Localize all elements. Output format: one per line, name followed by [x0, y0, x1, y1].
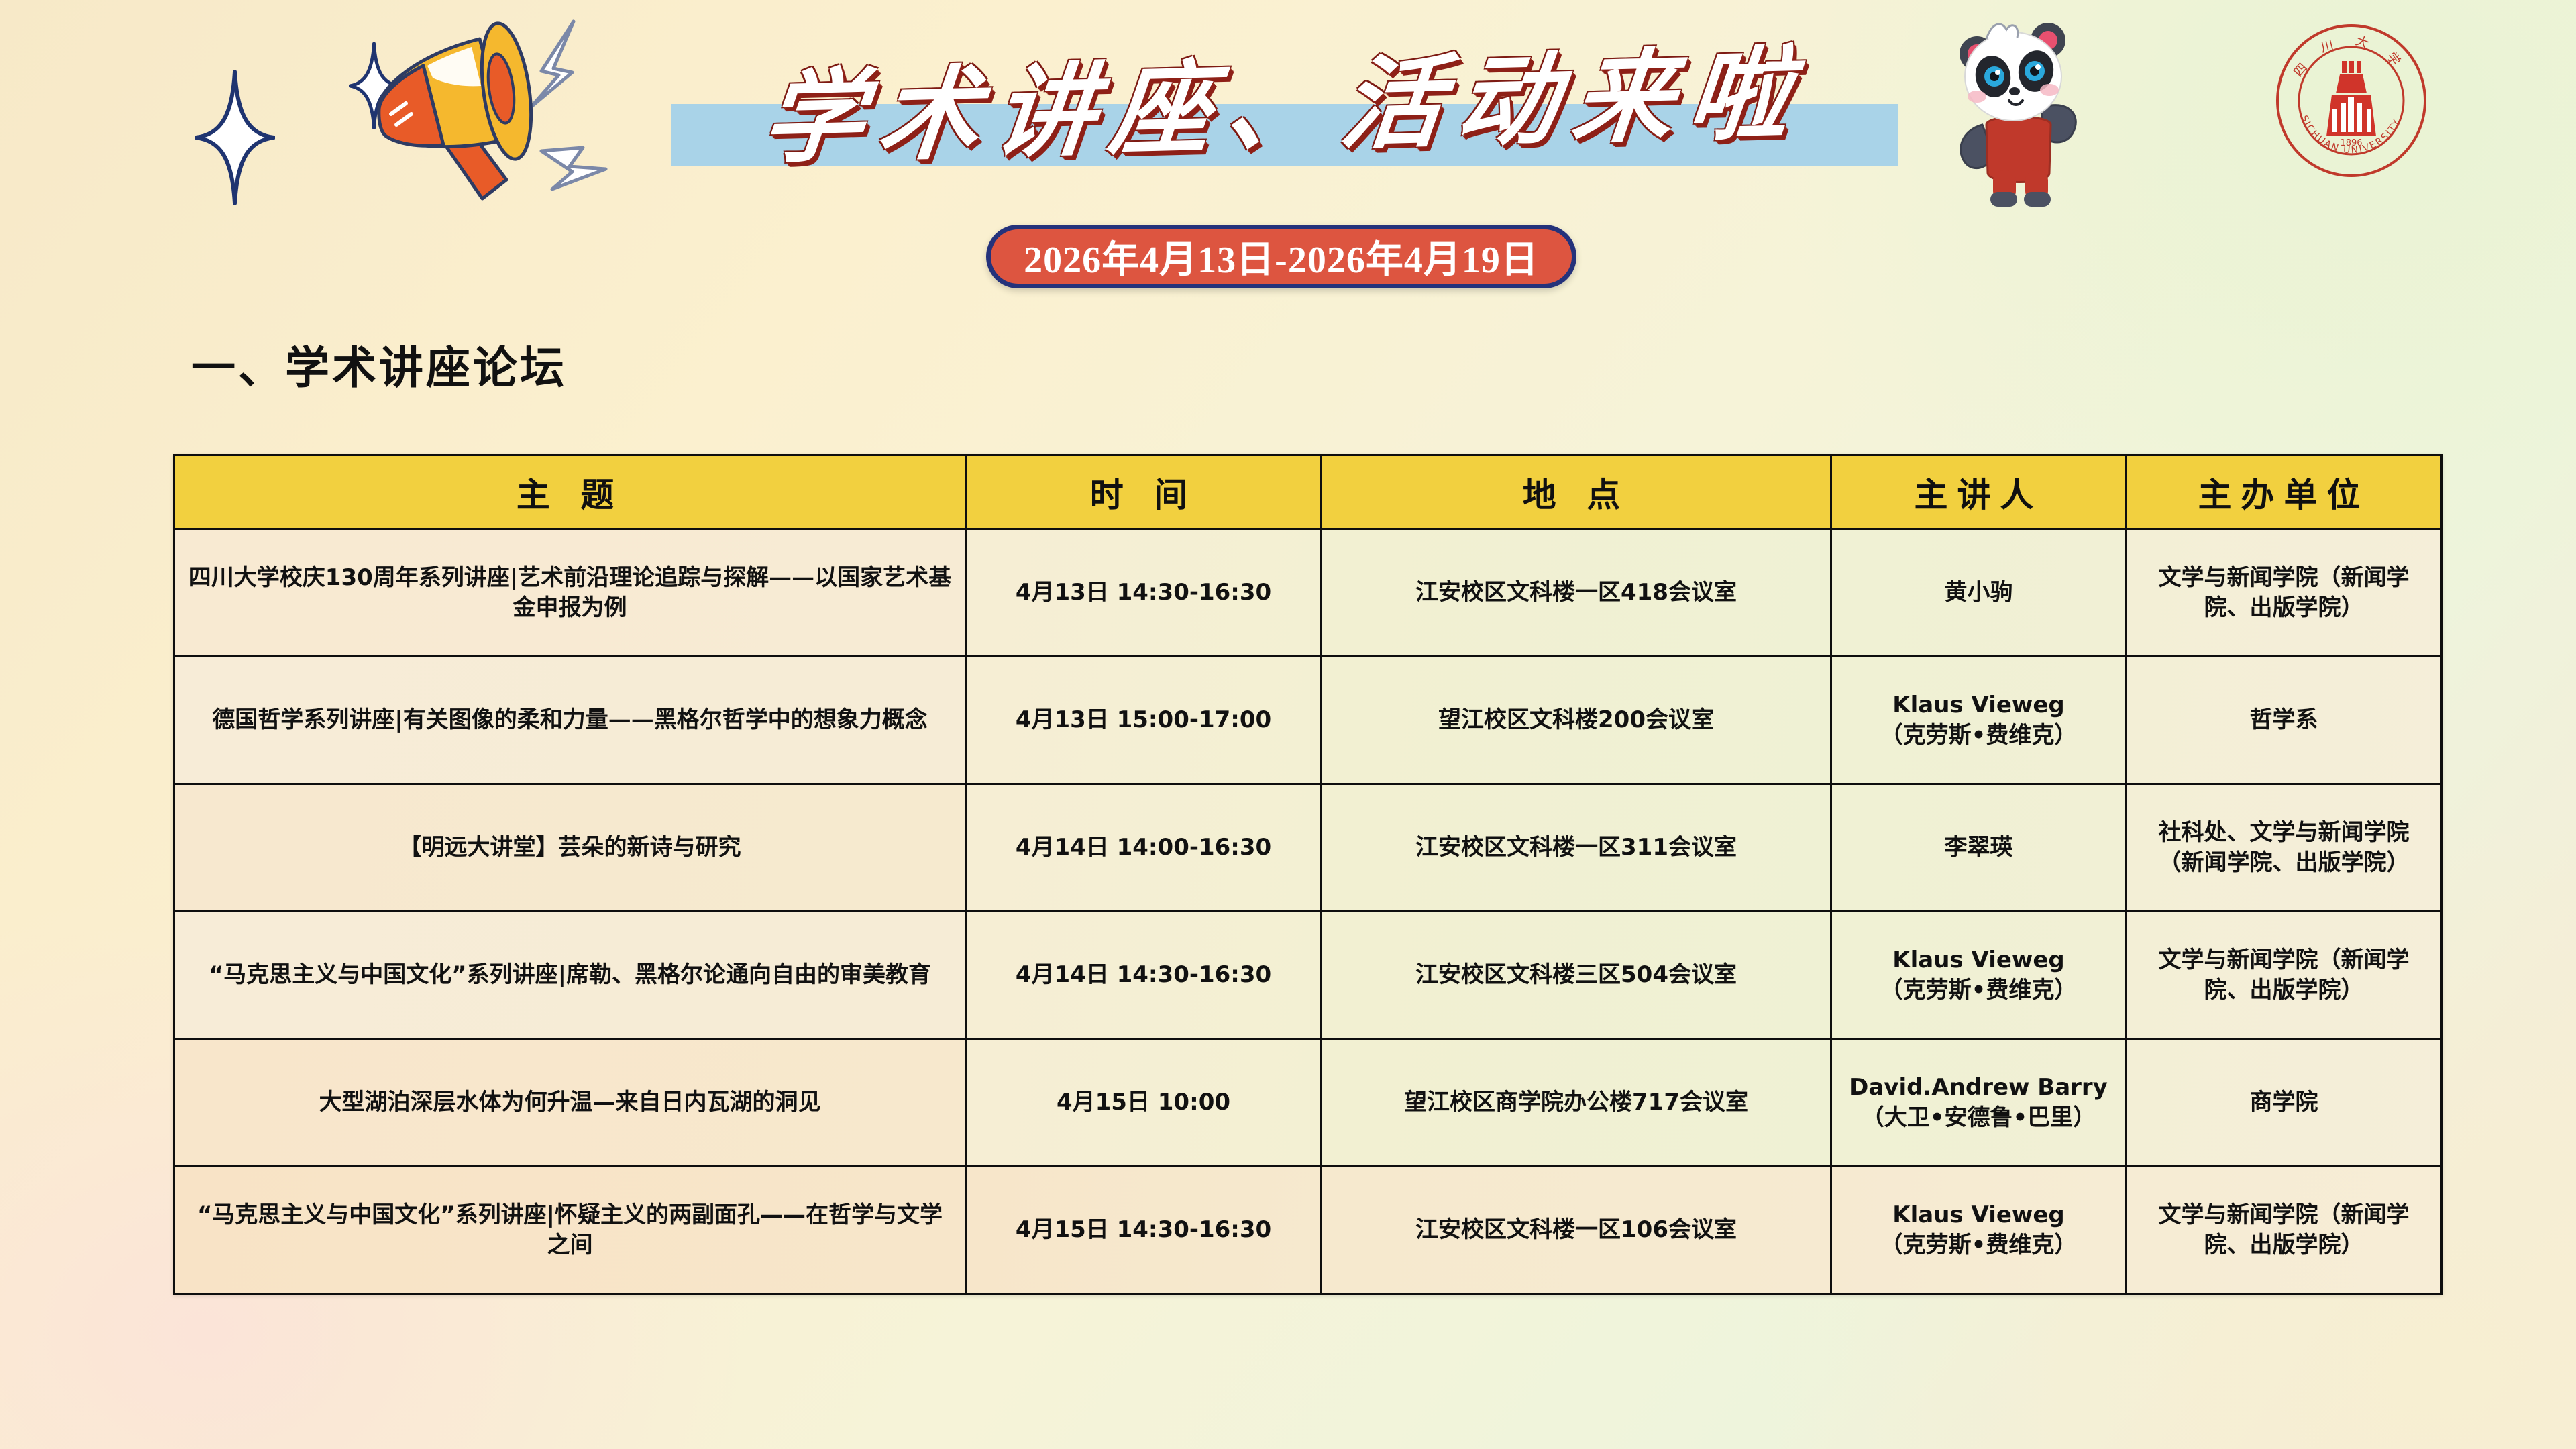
- cell-topic-text: 德国哲学系列讲座|有关图像的柔和力量——黑格尔哲学中的想象力概念: [186, 705, 954, 735]
- cell-time-text: 4月15日 10:00: [977, 1087, 1309, 1118]
- table-header-row: 主 题 时 间 地 点 主讲人 主办单位: [174, 455, 2442, 529]
- cell-host: 文学与新闻学院（新闻学院、出版学院）: [2127, 1167, 2442, 1294]
- cell-speaker-text: Klaus Vieweg: [1843, 1200, 2114, 1230]
- cell-host: 哲学系: [2127, 657, 2442, 784]
- cell-time-text: 4月14日 14:00-16:30: [977, 833, 1309, 863]
- cell-topic: 【明远大讲堂】芸朵的新诗与研究: [174, 784, 966, 912]
- cell-topic: “马克思主义与中国文化”系列讲座|席勒、黑格尔论通向自由的审美教育: [174, 912, 966, 1039]
- cell-host-text: 商学院: [2138, 1087, 2430, 1118]
- cell-host-text: 文学与新闻学院（新闻学院、出版学院）: [2138, 1200, 2430, 1260]
- cell-place-text: 江安校区文科楼三区504会议室: [1333, 960, 1819, 990]
- cell-topic: 大型湖泊深层水体为何升温—来自日内瓦湖的洞见: [174, 1039, 966, 1167]
- table-row: 四川大学校庆130周年系列讲座|艺术前沿理论追踪与探解——以国家艺术基金申报为例…: [174, 529, 2442, 657]
- cell-speaker: David.Andrew Barry（大卫•安德鲁•巴里）: [1831, 1039, 2127, 1167]
- cell-topic: 四川大学校庆130周年系列讲座|艺术前沿理论追踪与探解——以国家艺术基金申报为例: [174, 529, 966, 657]
- cell-host: 商学院: [2127, 1039, 2442, 1167]
- cell-host-text: 社科处、文学与新闻学院（新闻学院、出版学院）: [2138, 818, 2430, 878]
- cell-host-text: 文学与新闻学院（新闻学院、出版学院）: [2138, 563, 2430, 623]
- cell-host: 社科处、文学与新闻学院（新闻学院、出版学院）: [2127, 784, 2442, 912]
- page-header: 学术讲座、活动来啦 2026年4月13日-2026年4月19日: [0, 0, 2576, 295]
- cell-speaker-secondary-text: （克劳斯•费维克）: [1843, 1230, 2114, 1260]
- cell-time: 4月15日 14:30-16:30: [966, 1167, 1322, 1294]
- cell-speaker: 黄小驹: [1831, 529, 2127, 657]
- cell-speaker-text: 李翠瑛: [1843, 833, 2114, 863]
- panda-mascot-icon: [1942, 7, 2103, 208]
- cell-place: 江安校区文科楼一区418会议室: [1322, 529, 1831, 657]
- table-row: “马克思主义与中国文化”系列讲座|席勒、黑格尔论通向自由的审美教育4月14日 1…: [174, 912, 2442, 1039]
- megaphone-icon: [305, 13, 654, 215]
- cell-place-text: 江安校区文科楼一区106会议室: [1333, 1215, 1819, 1245]
- cell-speaker: Klaus Vieweg（克劳斯•费维克）: [1831, 657, 2127, 784]
- cell-place: 江安校区文科楼一区311会议室: [1322, 784, 1831, 912]
- cell-topic-text: 【明远大讲堂】芸朵的新诗与研究: [186, 833, 954, 863]
- banner-title: 学术讲座、活动来啦: [671, 20, 1905, 174]
- cell-time: 4月13日 14:30-16:30: [966, 529, 1322, 657]
- column-header-topic: 主 题: [174, 455, 966, 529]
- cell-speaker-text: 黄小驹: [1843, 578, 2114, 608]
- cell-speaker: 李翠瑛: [1831, 784, 2127, 912]
- cell-speaker-text: Klaus Vieweg: [1843, 690, 2114, 720]
- cell-topic-text: “马克思主义与中国文化”系列讲座|席勒、黑格尔论通向自由的审美教育: [186, 960, 954, 990]
- cell-topic: 德国哲学系列讲座|有关图像的柔和力量——黑格尔哲学中的想象力概念: [174, 657, 966, 784]
- cell-place: 望江校区商学院办公楼717会议室: [1322, 1039, 1831, 1167]
- date-range-text: 2026年4月13日-2026年4月19日: [1024, 229, 1539, 284]
- cell-time-text: 4月15日 14:30-16:30: [977, 1215, 1309, 1245]
- cell-place-text: 望江校区文科楼200会议室: [1333, 705, 1819, 735]
- schedule-table-body: 四川大学校庆130周年系列讲座|艺术前沿理论追踪与探解——以国家艺术基金申报为例…: [174, 529, 2442, 1294]
- cell-place: 望江校区文科楼200会议室: [1322, 657, 1831, 784]
- cell-time: 4月14日 14:00-16:30: [966, 784, 1322, 912]
- sichuan-university-logo: 四川大学 SICHUAN UNIVERSITY 1896: [2274, 23, 2428, 178]
- cell-host-text: 文学与新闻学院（新闻学院、出版学院）: [2138, 945, 2430, 1006]
- cell-speaker-secondary-text: （大卫•安德鲁•巴里）: [1843, 1103, 2114, 1133]
- table-row: 德国哲学系列讲座|有关图像的柔和力量——黑格尔哲学中的想象力概念4月13日 15…: [174, 657, 2442, 784]
- logo-year: 1896: [2340, 138, 2362, 148]
- table-row: 大型湖泊深层水体为何升温—来自日内瓦湖的洞见4月15日 10:00望江校区商学院…: [174, 1039, 2442, 1167]
- cell-place: 江安校区文科楼三区504会议室: [1322, 912, 1831, 1039]
- column-header-speaker: 主讲人: [1831, 455, 2127, 529]
- cell-host: 文学与新闻学院（新闻学院、出版学院）: [2127, 912, 2442, 1039]
- cell-topic-text: 大型湖泊深层水体为何升温—来自日内瓦湖的洞见: [186, 1087, 954, 1118]
- cell-place-text: 江安校区文科楼一区311会议室: [1333, 833, 1819, 863]
- schedule-table: 主 题 时 间 地 点 主讲人 主办单位 四川大学校庆130周年系列讲座|艺术前…: [173, 454, 2443, 1295]
- cell-topic-text: “马克思主义与中国文化”系列讲座|怀疑主义的两副面孔——在哲学与文学之间: [186, 1200, 954, 1260]
- sparkle-icon: [195, 70, 275, 205]
- column-header-host: 主办单位: [2127, 455, 2442, 529]
- cell-time: 4月13日 15:00-17:00: [966, 657, 1322, 784]
- table-row: 【明远大讲堂】芸朵的新诗与研究4月14日 14:00-16:30江安校区文科楼一…: [174, 784, 2442, 912]
- section-heading: 一、学术讲座论坛: [191, 332, 567, 396]
- column-header-time: 时 间: [966, 455, 1322, 529]
- date-range-badge: 2026年4月13日-2026年4月19日: [986, 225, 1576, 288]
- cell-speaker: Klaus Vieweg（克劳斯•费维克）: [1831, 912, 2127, 1039]
- table-row: “马克思主义与中国文化”系列讲座|怀疑主义的两副面孔——在哲学与文学之间4月15…: [174, 1167, 2442, 1294]
- cell-time-text: 4月13日 14:30-16:30: [977, 578, 1309, 608]
- cell-time-text: 4月14日 14:30-16:30: [977, 960, 1309, 990]
- cell-topic: “马克思主义与中国文化”系列讲座|怀疑主义的两副面孔——在哲学与文学之间: [174, 1167, 966, 1294]
- cell-speaker-text: Klaus Vieweg: [1843, 945, 2114, 975]
- cell-place-text: 江安校区文科楼一区418会议室: [1333, 578, 1819, 608]
- cell-speaker-secondary-text: （克劳斯•费维克）: [1843, 720, 2114, 751]
- cell-speaker: Klaus Vieweg（克劳斯•费维克）: [1831, 1167, 2127, 1294]
- cell-host-text: 哲学系: [2138, 705, 2430, 735]
- cell-speaker-secondary-text: （克劳斯•费维克）: [1843, 975, 2114, 1006]
- cell-topic-text: 四川大学校庆130周年系列讲座|艺术前沿理论追踪与探解——以国家艺术基金申报为例: [186, 563, 954, 623]
- cell-host: 文学与新闻学院（新闻学院、出版学院）: [2127, 529, 2442, 657]
- cell-place: 江安校区文科楼一区106会议室: [1322, 1167, 1831, 1294]
- cell-time: 4月14日 14:30-16:30: [966, 912, 1322, 1039]
- column-header-place: 地 点: [1322, 455, 1831, 529]
- cell-speaker-text: David.Andrew Barry: [1843, 1073, 2114, 1103]
- cell-place-text: 望江校区商学院办公楼717会议室: [1333, 1087, 1819, 1118]
- cell-time: 4月15日 10:00: [966, 1039, 1322, 1167]
- cell-time-text: 4月13日 15:00-17:00: [977, 705, 1309, 735]
- banner-title-text: 学术讲座、活动来啦: [661, 5, 1908, 190]
